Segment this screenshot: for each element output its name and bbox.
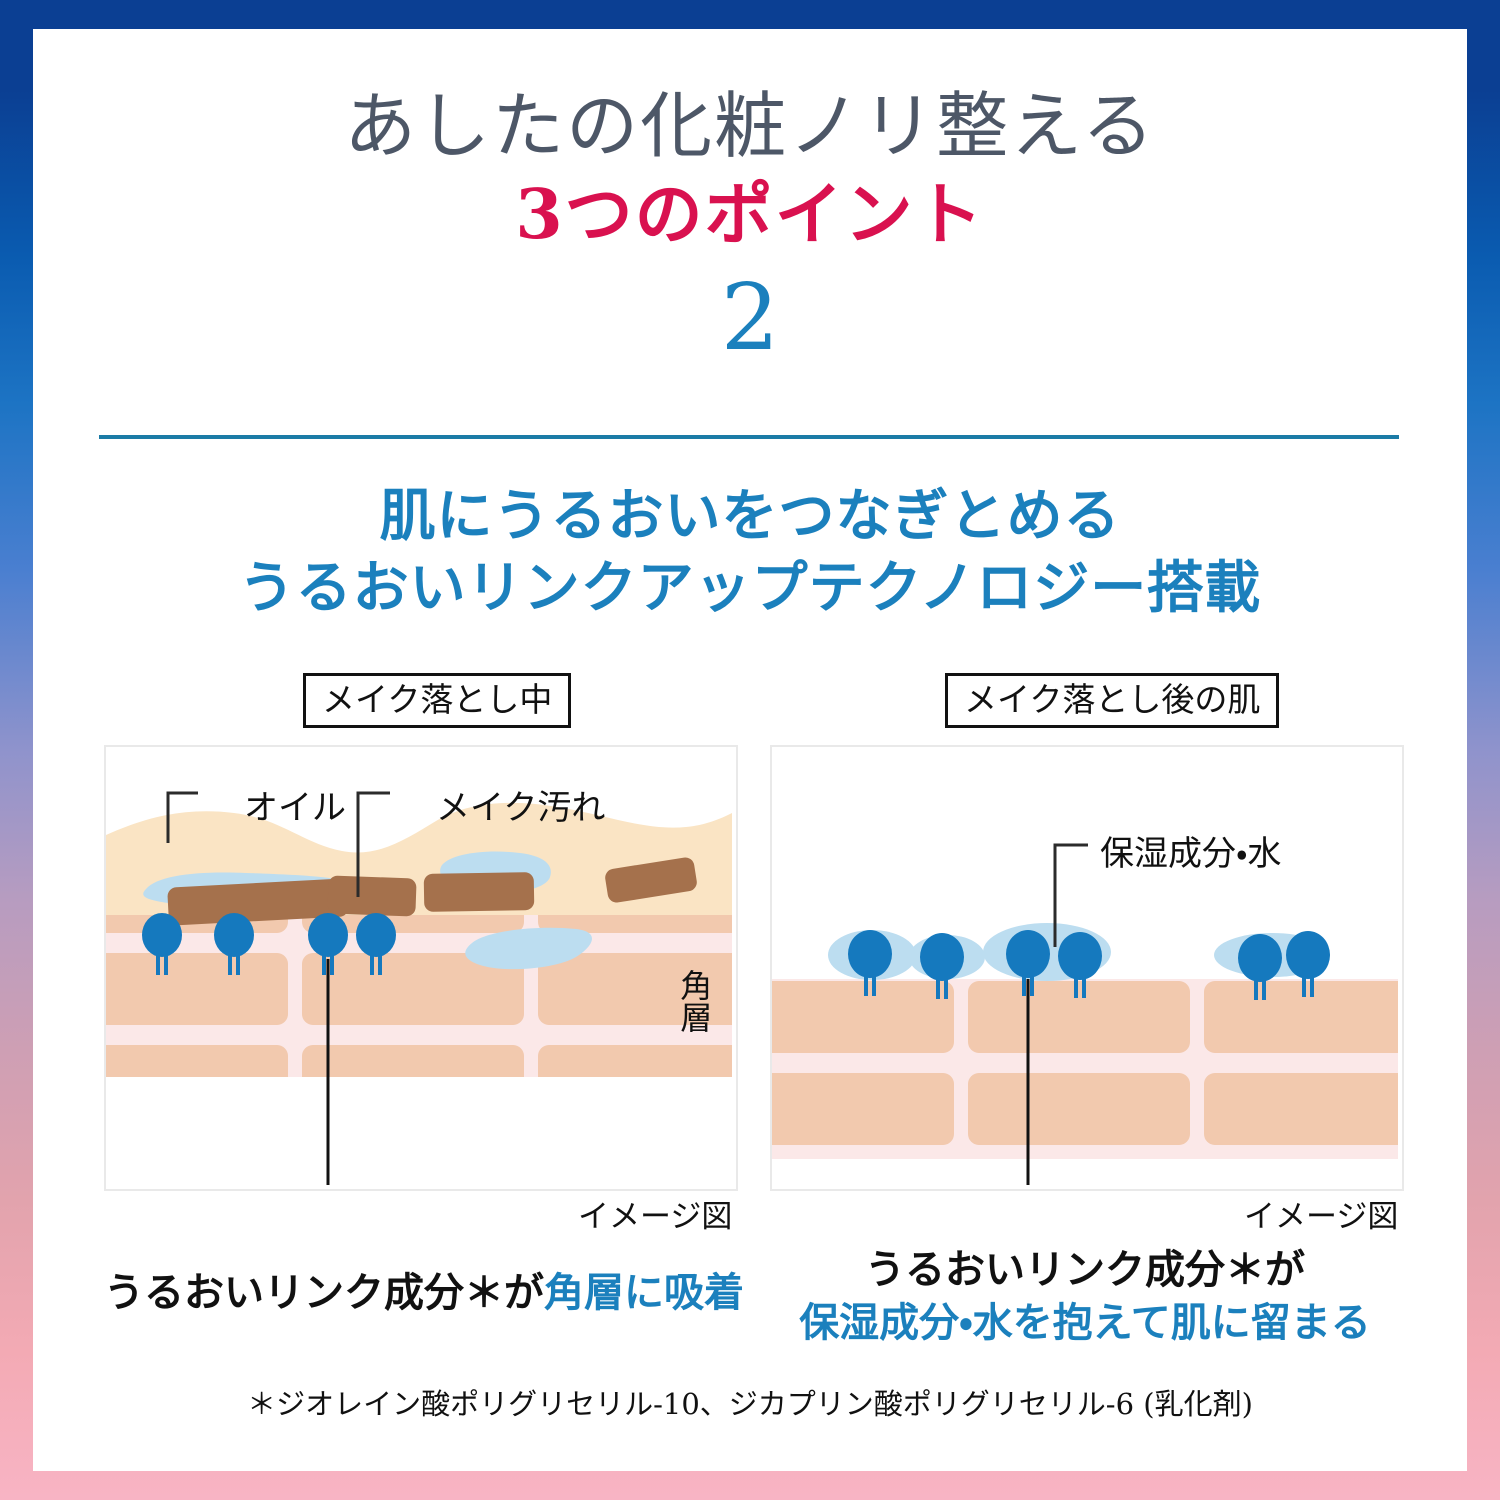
header: あしたの化粧ノリ整える 3つのポイント 2 xyxy=(33,29,1467,364)
subheading-line1: 肌にうるおいをつなぎとめる xyxy=(33,481,1467,553)
subheading: 肌にうるおいをつなぎとめる うるおいリンクアップテクノロジー搭載 xyxy=(33,481,1467,624)
image-note-right: イメージ図 xyxy=(1244,1191,1398,1236)
caption-left-black: うるおいリンク成分＊が xyxy=(104,1269,544,1316)
callout-label-moisture-water: 保湿成分・水 xyxy=(1100,826,1282,875)
caption-right: うるおいリンク成分＊が 保湿成分・水を抱えて肌に留まる xyxy=(770,1244,1400,1350)
caption-left-blue: 角層に吸着 xyxy=(544,1269,744,1316)
caption-right-black: うるおいリンク成分＊が xyxy=(770,1244,1400,1297)
subheading-line2: うるおいリンクアップテクノロジー搭載 xyxy=(33,553,1467,625)
callout-label-horny-layer: 角層 xyxy=(676,969,711,1033)
callout-label-makeup-dirt: メイク汚れ xyxy=(436,780,605,829)
poster-frame: あしたの化粧ノリ整える 3つのポイント 2 肌にうるおいをつなぎとめる うるおい… xyxy=(33,29,1467,1471)
page-title-line2: 3つのポイント xyxy=(33,176,1467,254)
footnote: ＊ジオレイン酸ポリグリセリル-10、ジカプリン酸ポリグリセリル-6 (乳化剤) xyxy=(33,1381,1467,1423)
stratum-corneum-layers xyxy=(772,979,1398,1185)
diagram-during-removal: オイル メイク汚れ 角層 xyxy=(104,745,738,1191)
image-note-left: イメージ図 xyxy=(578,1191,732,1236)
caption-right-blue: 保湿成分・水を抱えて肌に留まる xyxy=(770,1297,1400,1350)
point-number: 2 xyxy=(33,272,1467,364)
page-title-line1: あしたの化粧ノリ整える xyxy=(33,85,1467,168)
caption-left: うるおいリンク成分＊が角層に吸着 xyxy=(104,1267,734,1320)
panel-tag-right: メイク落とし後の肌 xyxy=(945,673,1279,728)
horizontal-divider xyxy=(99,435,1399,439)
diagram-after-removal: 保湿成分・水 xyxy=(770,745,1404,1191)
callout-label-oil: オイル xyxy=(244,780,346,829)
panel-tag-left: メイク落とし中 xyxy=(303,673,571,728)
